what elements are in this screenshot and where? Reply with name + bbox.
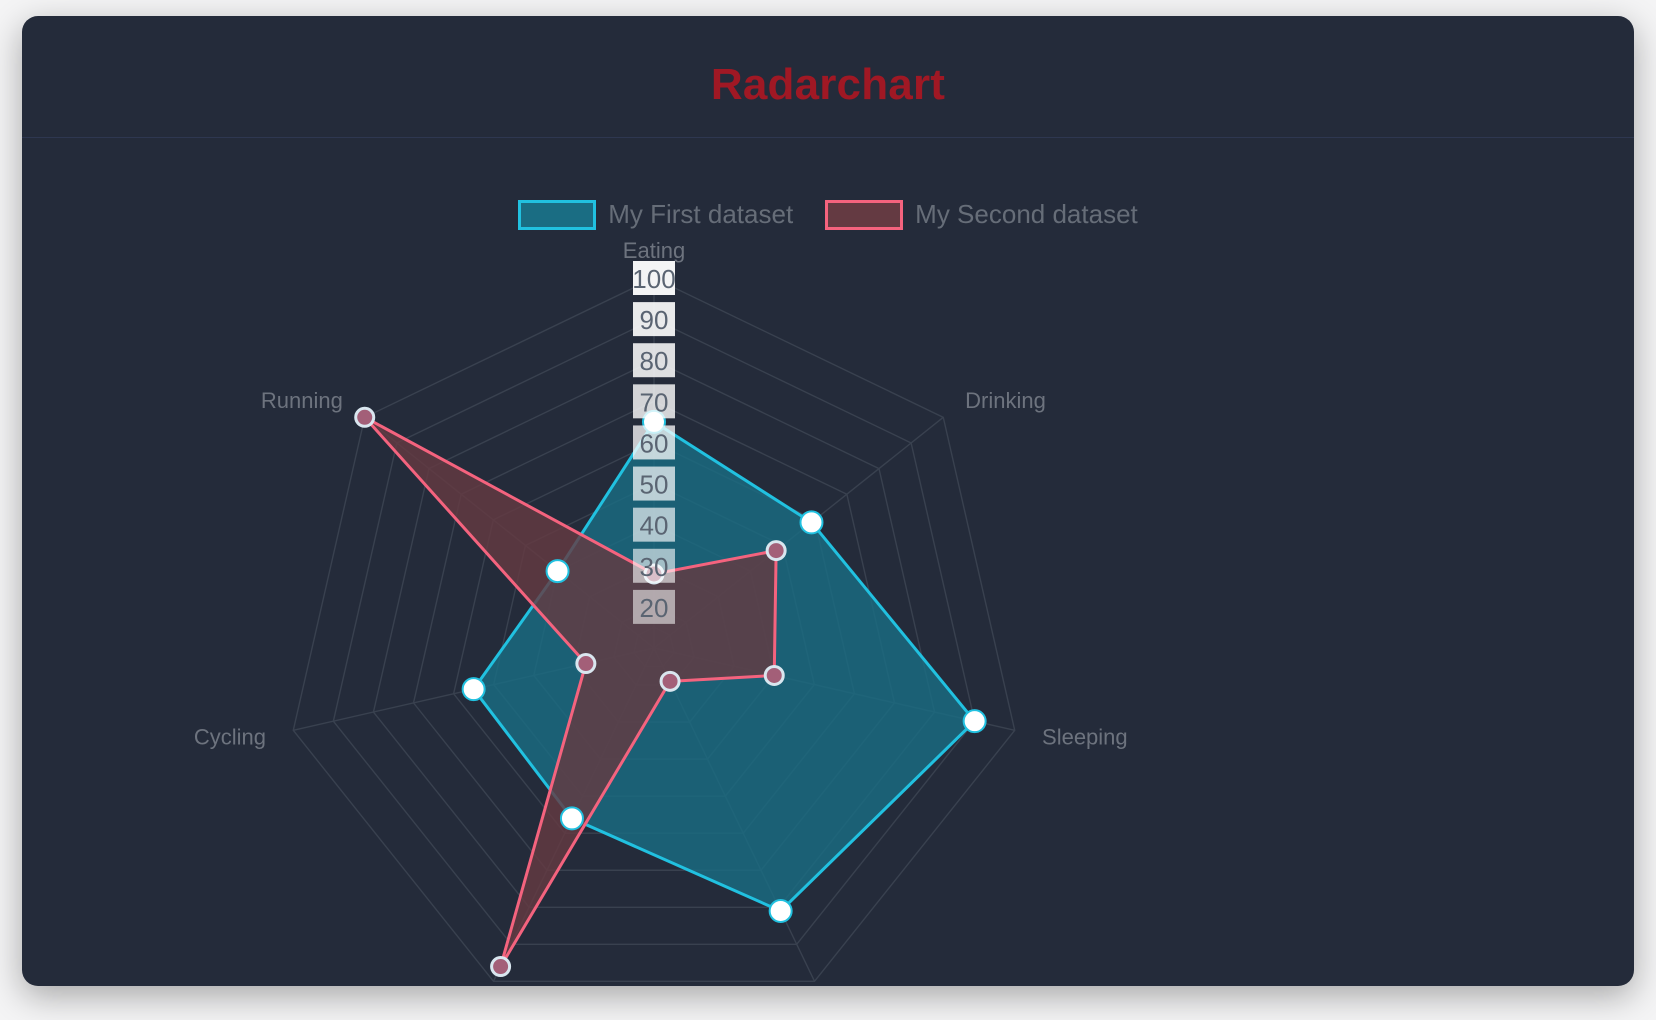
axis-label-eating: Eating [623, 238, 685, 263]
tick-label: 40 [640, 511, 669, 541]
radial-tick-labels: 1009080706050403020 [632, 261, 675, 624]
data-point[interactable] [492, 958, 510, 976]
radar-chart-svg[interactable]: EatingDrinkingSleepingDesigningCodingCyc… [22, 138, 1634, 986]
tick-label: 80 [640, 346, 669, 376]
tick-label: 60 [640, 428, 669, 458]
tick-label: 70 [640, 387, 669, 417]
data-point[interactable] [770, 900, 792, 922]
data-point[interactable] [577, 655, 595, 673]
data-point[interactable] [356, 408, 374, 426]
axis-label-drinking: Drinking [965, 388, 1046, 413]
data-point[interactable] [463, 678, 485, 700]
data-point[interactable] [964, 710, 986, 732]
data-point[interactable] [561, 807, 583, 829]
page-root: Radarchart My First dataset My Second da… [0, 0, 1656, 1020]
data-point[interactable] [765, 666, 783, 684]
tick-label: 100 [632, 264, 675, 294]
axis-label-cycling: Cycling [194, 725, 266, 750]
tick-label: 50 [640, 470, 669, 500]
data-point[interactable] [661, 672, 679, 690]
page-title: Radarchart [22, 60, 1634, 110]
radar-chart-plot: EatingDrinkingSleepingDesigningCodingCyc… [22, 138, 1634, 986]
tick-label: 20 [640, 593, 669, 623]
tick-label: 30 [640, 552, 669, 582]
axis-label-running: Running [261, 388, 343, 413]
window-titlebar: Radarchart [22, 16, 1634, 138]
chart-window: Radarchart My First dataset My Second da… [22, 16, 1634, 986]
data-point[interactable] [800, 511, 822, 533]
data-point[interactable] [767, 542, 785, 560]
data-point[interactable] [547, 560, 569, 582]
axis-label-sleeping: Sleeping [1042, 725, 1128, 750]
tick-label: 90 [640, 305, 669, 335]
